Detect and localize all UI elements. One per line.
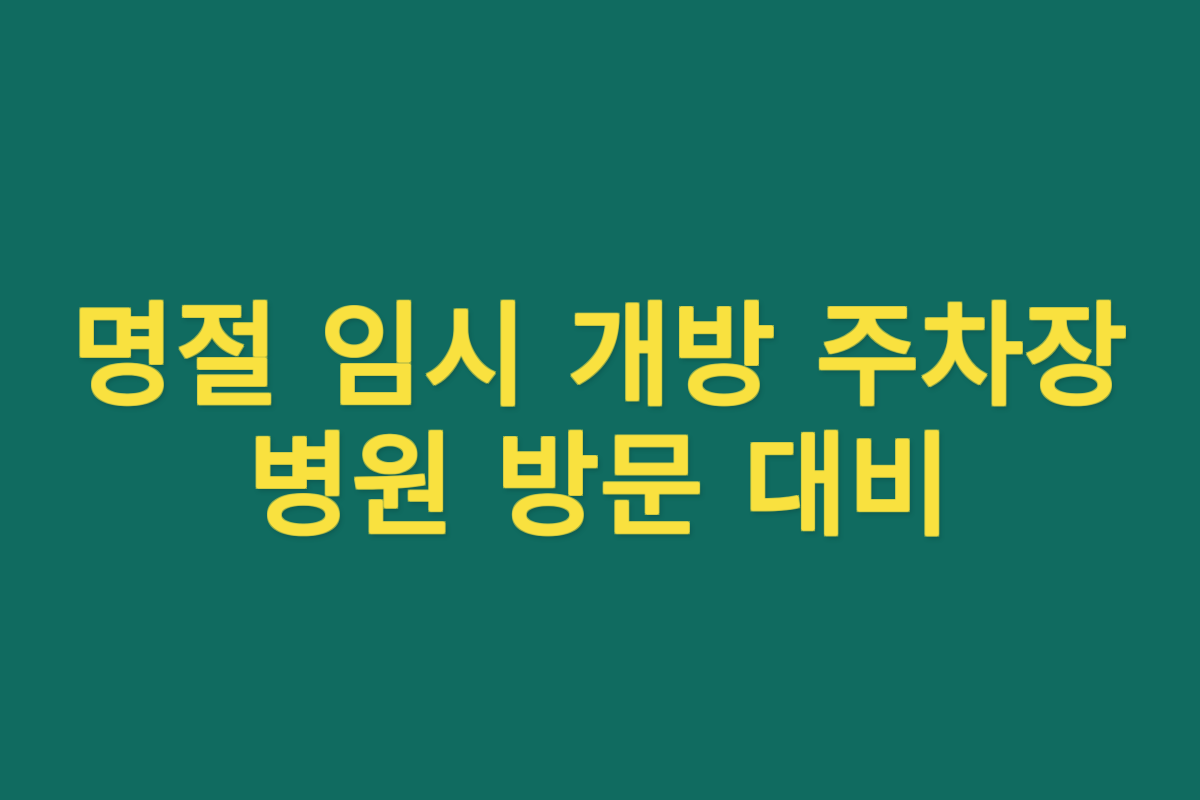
headline-block: 명절 임시 개방 주차장 병원 방문 대비 [0, 292, 1200, 552]
poster-canvas: 명절 임시 개방 주차장 병원 방문 대비 [0, 0, 1200, 800]
headline-line-2: 병원 방문 대비 [0, 422, 1200, 552]
headline-line-1: 명절 임시 개방 주차장 [0, 292, 1200, 422]
